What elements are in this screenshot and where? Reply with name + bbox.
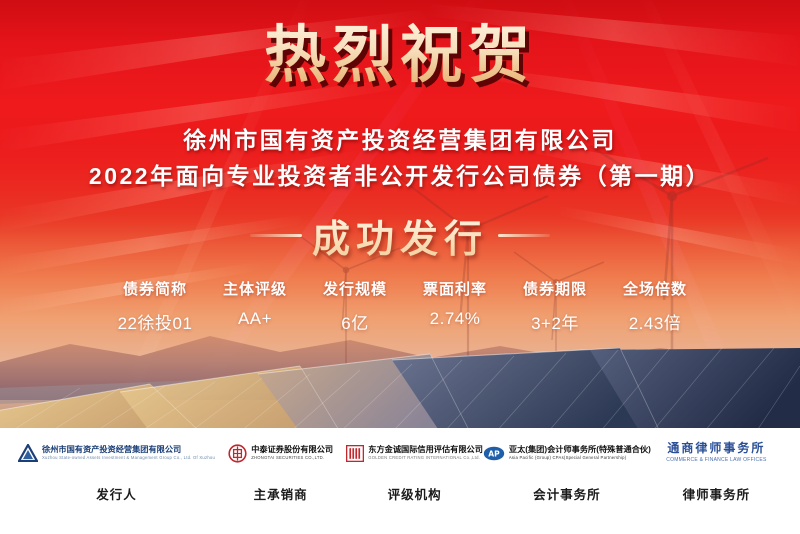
partner-role-lead-underwriter: 主承销商 bbox=[254, 484, 308, 503]
stat-value-coupon-rate: 2.74% bbox=[405, 309, 505, 334]
stat-value-term: 3+2年 bbox=[505, 309, 605, 334]
stat-header-term: 债券期限 bbox=[505, 278, 605, 299]
partner-name-en: Xuzhou State-owned Assets Investment & M… bbox=[42, 456, 215, 461]
partner-logo-text: 徐州市国有资产投资经营集团有限公司 Xuzhou State-owned Ass… bbox=[42, 445, 215, 460]
partner-logo-text: 中泰证券股份有限公司 ZHONGTAI SECURITIES CO.,LTD. bbox=[251, 445, 333, 460]
partner-issuer: 徐州市国有资产投资经营集团有限公司 Xuzhou State-owned Ass… bbox=[18, 428, 215, 534]
stat-value-bond-name: 22徐投01 bbox=[105, 309, 205, 334]
rule-right-decoration bbox=[498, 234, 550, 237]
stat-header-bond-name: 债券简称 bbox=[105, 278, 205, 299]
stat-value-oversubscription: 2.43倍 bbox=[605, 309, 705, 334]
partner-lead-underwriter: 中泰证券股份有限公司 ZHONGTAI SECURITIES CO.,LTD. … bbox=[215, 428, 346, 534]
issuer-name-line: 徐州市国有资产投资经营集团有限公司 bbox=[0, 121, 800, 155]
partner-name-en: COMMERCE & FINANCE LAW OFFICES bbox=[666, 458, 766, 464]
stat-header-issue-size: 发行规模 bbox=[305, 278, 405, 299]
partner-logo-row: 东方金诚国际信用评估有限公司 GOLDEN CREDIT RATING INTE… bbox=[346, 436, 483, 470]
partner-name-en: ZHONGTAI SECURITIES CO.,LTD. bbox=[251, 456, 333, 461]
bond-description-line: 2022年面向专业投资者非公开发行公司债券（第一期） bbox=[0, 157, 800, 191]
promotional-poster: 热烈祝贺 徐州市国有资产投资经营集团有限公司 2022年面向专业投资者非公开发行… bbox=[0, 0, 800, 534]
success-banner: 成功发行 bbox=[0, 208, 800, 263]
bond-stats-table: 债券简称 主体评级 发行规模 票面利率 债券期限 全场倍数 22徐投01 AA+… bbox=[105, 278, 705, 334]
red-circle-emblem-icon bbox=[228, 444, 247, 463]
stat-header-coupon-rate: 票面利率 bbox=[405, 278, 505, 299]
stat-header-rating: 主体评级 bbox=[205, 278, 305, 299]
partner-logo-row: 徐州市国有资产投资经营集团有限公司 Xuzhou State-owned Ass… bbox=[18, 436, 215, 470]
text-wordmark-icon: 通商律师事务所 COMMERCE & FINANCE LAW OFFICES bbox=[666, 442, 766, 464]
stat-header-oversubscription: 全场倍数 bbox=[605, 278, 705, 299]
partner-name-cn: 通商律师事务所 bbox=[667, 442, 765, 456]
success-banner-label: 成功发行 bbox=[312, 208, 488, 263]
partner-name-cn: 中泰证券股份有限公司 bbox=[251, 445, 333, 454]
red-square-bars-icon bbox=[346, 445, 364, 462]
partner-name-cn: 东方金诚国际信用评估有限公司 bbox=[368, 445, 483, 454]
partner-law-firm: 通商律师事务所 COMMERCE & FINANCE LAW OFFICES 律… bbox=[651, 428, 782, 534]
partner-role-accounting-firm: 会计事务所 bbox=[533, 484, 601, 503]
partners-footer: 徐州市国有资产投资经营集团有限公司 Xuzhou State-owned Ass… bbox=[0, 428, 800, 534]
partner-logo-text: 东方金诚国际信用评估有限公司 GOLDEN CREDIT RATING INTE… bbox=[368, 445, 483, 460]
stat-value-rating: AA+ bbox=[205, 309, 305, 334]
partner-logo-text: 亚太(集团)会计师事务所(特殊普通合伙) Asia Pacific (Group… bbox=[509, 445, 651, 460]
partner-name-en: GOLDEN CREDIT RATING INTERNATIONAL Co.,L… bbox=[368, 456, 483, 461]
partner-name-cn: 徐州市国有资产投资经营集团有限公司 bbox=[42, 445, 215, 454]
partner-rating-agency: 东方金诚国际信用评估有限公司 GOLDEN CREDIT RATING INTE… bbox=[346, 428, 483, 534]
partner-logo-row: 通商律师事务所 COMMERCE & FINANCE LAW OFFICES bbox=[666, 436, 766, 470]
partner-role-rating-agency: 评级机构 bbox=[388, 484, 442, 503]
partner-logo-row: 中泰证券股份有限公司 ZHONGTAI SECURITIES CO.,LTD. bbox=[228, 436, 333, 470]
blue-oval-ap-icon: AP bbox=[483, 446, 505, 461]
partner-name-en: Asia Pacific (Group) CPAs(Special Genera… bbox=[509, 456, 651, 461]
partner-role-issuer: 发行人 bbox=[96, 484, 137, 503]
svg-text:AP: AP bbox=[488, 449, 500, 458]
page-title: 热烈祝贺 bbox=[0, 22, 800, 87]
stat-value-issue-size: 6亿 bbox=[305, 309, 405, 334]
rule-left-decoration bbox=[250, 234, 302, 237]
blue-triangle-icon bbox=[18, 444, 38, 462]
partner-name-cn: 亚太(集团)会计师事务所(特殊普通合伙) bbox=[509, 445, 651, 454]
partner-role-law-firm: 律师事务所 bbox=[683, 484, 751, 503]
partner-logo-row: AP 亚太(集团)会计师事务所(特殊普通合伙) Asia Pacific (Gr… bbox=[483, 436, 651, 470]
partner-accounting-firm: AP 亚太(集团)会计师事务所(特殊普通合伙) Asia Pacific (Gr… bbox=[483, 428, 651, 534]
